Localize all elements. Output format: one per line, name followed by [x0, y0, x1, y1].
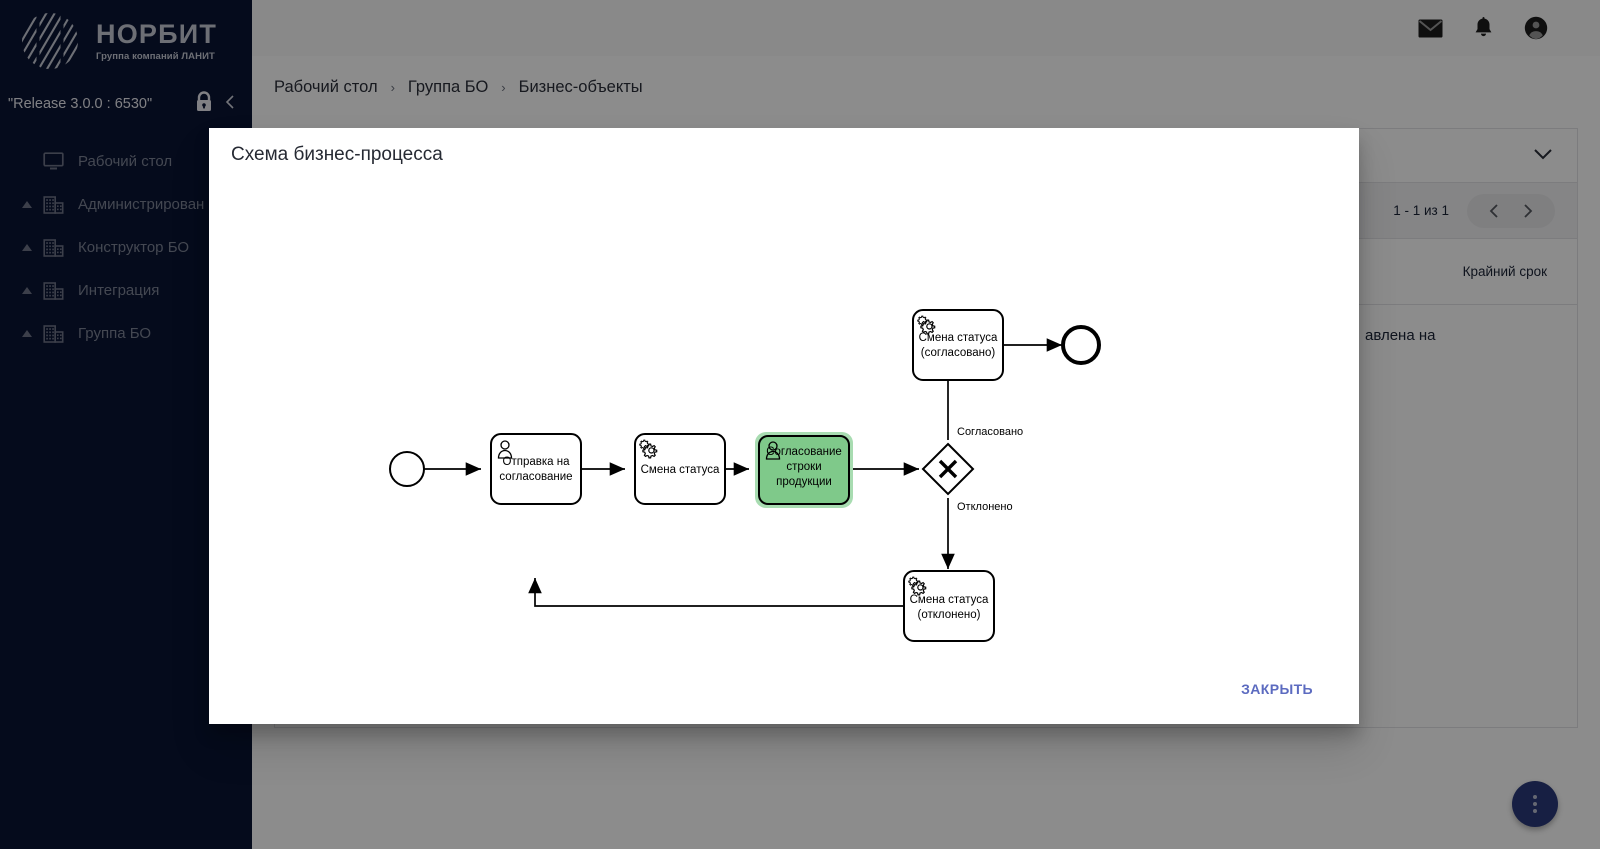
bpmn-task-soglasovanie-stroki-produkcii[interactable]: Согласование строки продукции: [755, 432, 853, 508]
task-label: строки: [786, 461, 821, 473]
bpmn-svg: Отправка на согласование Смена статуса: [209, 174, 1359, 654]
modal-title: Схема бизнес-процесса: [231, 144, 443, 166]
task-label: Смена статуса: [641, 464, 720, 476]
bpmn-task-smena-statusa[interactable]: Смена статуса: [635, 434, 725, 504]
task-label: (отклонено): [918, 609, 981, 621]
task-label: продукции: [776, 476, 832, 488]
close-button[interactable]: ЗАКРЫТЬ: [1225, 671, 1329, 707]
modal-footer: ЗАКРЫТЬ: [209, 654, 1359, 724]
business-process-diagram-modal: Схема бизнес-процесса: [209, 128, 1359, 724]
flow-label-soglasovano: Согласовано: [957, 426, 1023, 438]
bpmn-task-smena-statusa-soglasovano[interactable]: Смена статуса (согласовано): [913, 310, 1003, 380]
bpmn-task-smena-statusa-otkloneno[interactable]: Смена статуса (отклонено): [904, 571, 994, 641]
flow-task5-task1: [535, 578, 904, 606]
bpmn-start-event[interactable]: [390, 452, 424, 486]
bpmn-exclusive-gateway[interactable]: [923, 444, 973, 494]
bpmn-diagram-canvas[interactable]: Отправка на согласование Смена статуса: [209, 174, 1359, 654]
task-label: (согласовано): [921, 347, 996, 359]
task-label: Отправка на: [503, 456, 571, 468]
bpmn-end-event[interactable]: [1063, 327, 1099, 363]
task-label: согласование: [499, 471, 572, 483]
bpmn-task-otpravka-na-soglasovanie[interactable]: Отправка на согласование: [491, 434, 581, 504]
flow-label-otkloneno: Отклонено: [957, 501, 1013, 513]
task-label: Смена статуса: [910, 594, 989, 606]
task-label: Согласование: [766, 446, 842, 458]
task-label: Смена статуса: [919, 332, 998, 344]
